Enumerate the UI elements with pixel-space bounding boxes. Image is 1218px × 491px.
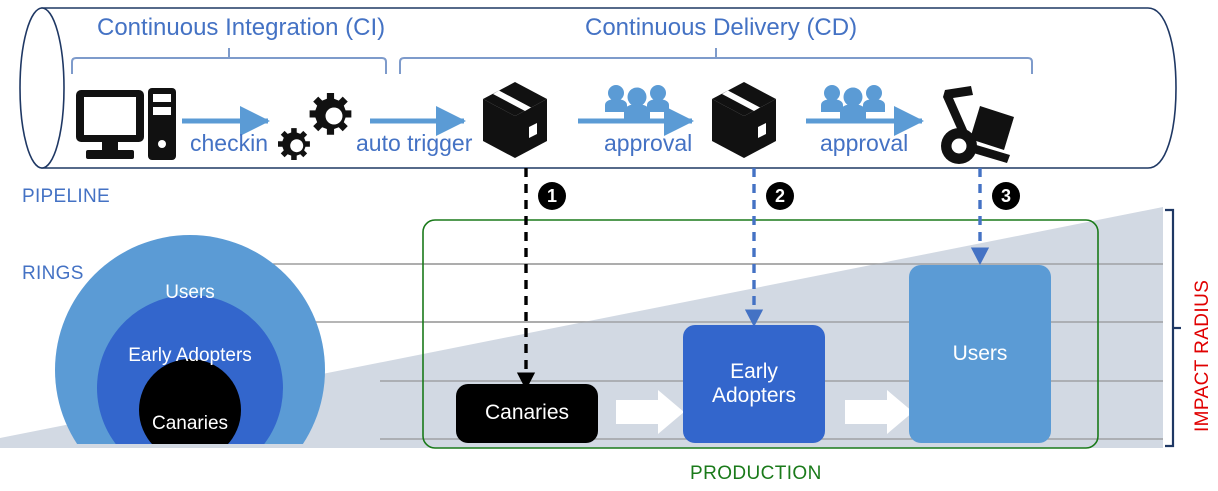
pipeline-side-label: PIPELINE	[22, 186, 110, 208]
approval-1-label: approval	[604, 130, 692, 157]
impact-radius-bracket	[1165, 210, 1181, 446]
stage-early-adopters-box[interactable]: Early Adopters	[683, 325, 825, 443]
ring-early-adopters-label: Early Adopters	[100, 345, 280, 367]
ring-users-label: Users	[130, 282, 250, 304]
stage-users-label: Users	[953, 342, 1008, 366]
stage-canaries-box[interactable]: Canaries	[456, 384, 598, 443]
cd-group-label: Continuous Delivery (CD)	[585, 14, 857, 42]
stage-canaries-label: Canaries	[485, 401, 569, 425]
ci-group-label: Continuous Integration (CI)	[97, 14, 385, 42]
rings-side-label: RINGS	[22, 263, 84, 285]
approval-2-label: approval	[820, 130, 908, 157]
step-badge-1: 1	[538, 182, 566, 210]
step-badge-2: 2	[766, 182, 794, 210]
impact-radius-label: IMPACT RADIUS	[1192, 280, 1214, 432]
production-label: PRODUCTION	[690, 463, 822, 485]
stage-users-box[interactable]: Users	[909, 265, 1051, 443]
step-badge-3: 3	[992, 182, 1020, 210]
auto-trigger-label: auto trigger	[356, 130, 472, 157]
stage-early-adopters-label: Early Adopters	[712, 360, 796, 408]
checkin-label: checkin	[190, 130, 268, 157]
diagram-canvas: Continuous Integration (CI) Continuous D…	[0, 0, 1218, 491]
ring-canaries-label: Canaries	[130, 413, 250, 435]
